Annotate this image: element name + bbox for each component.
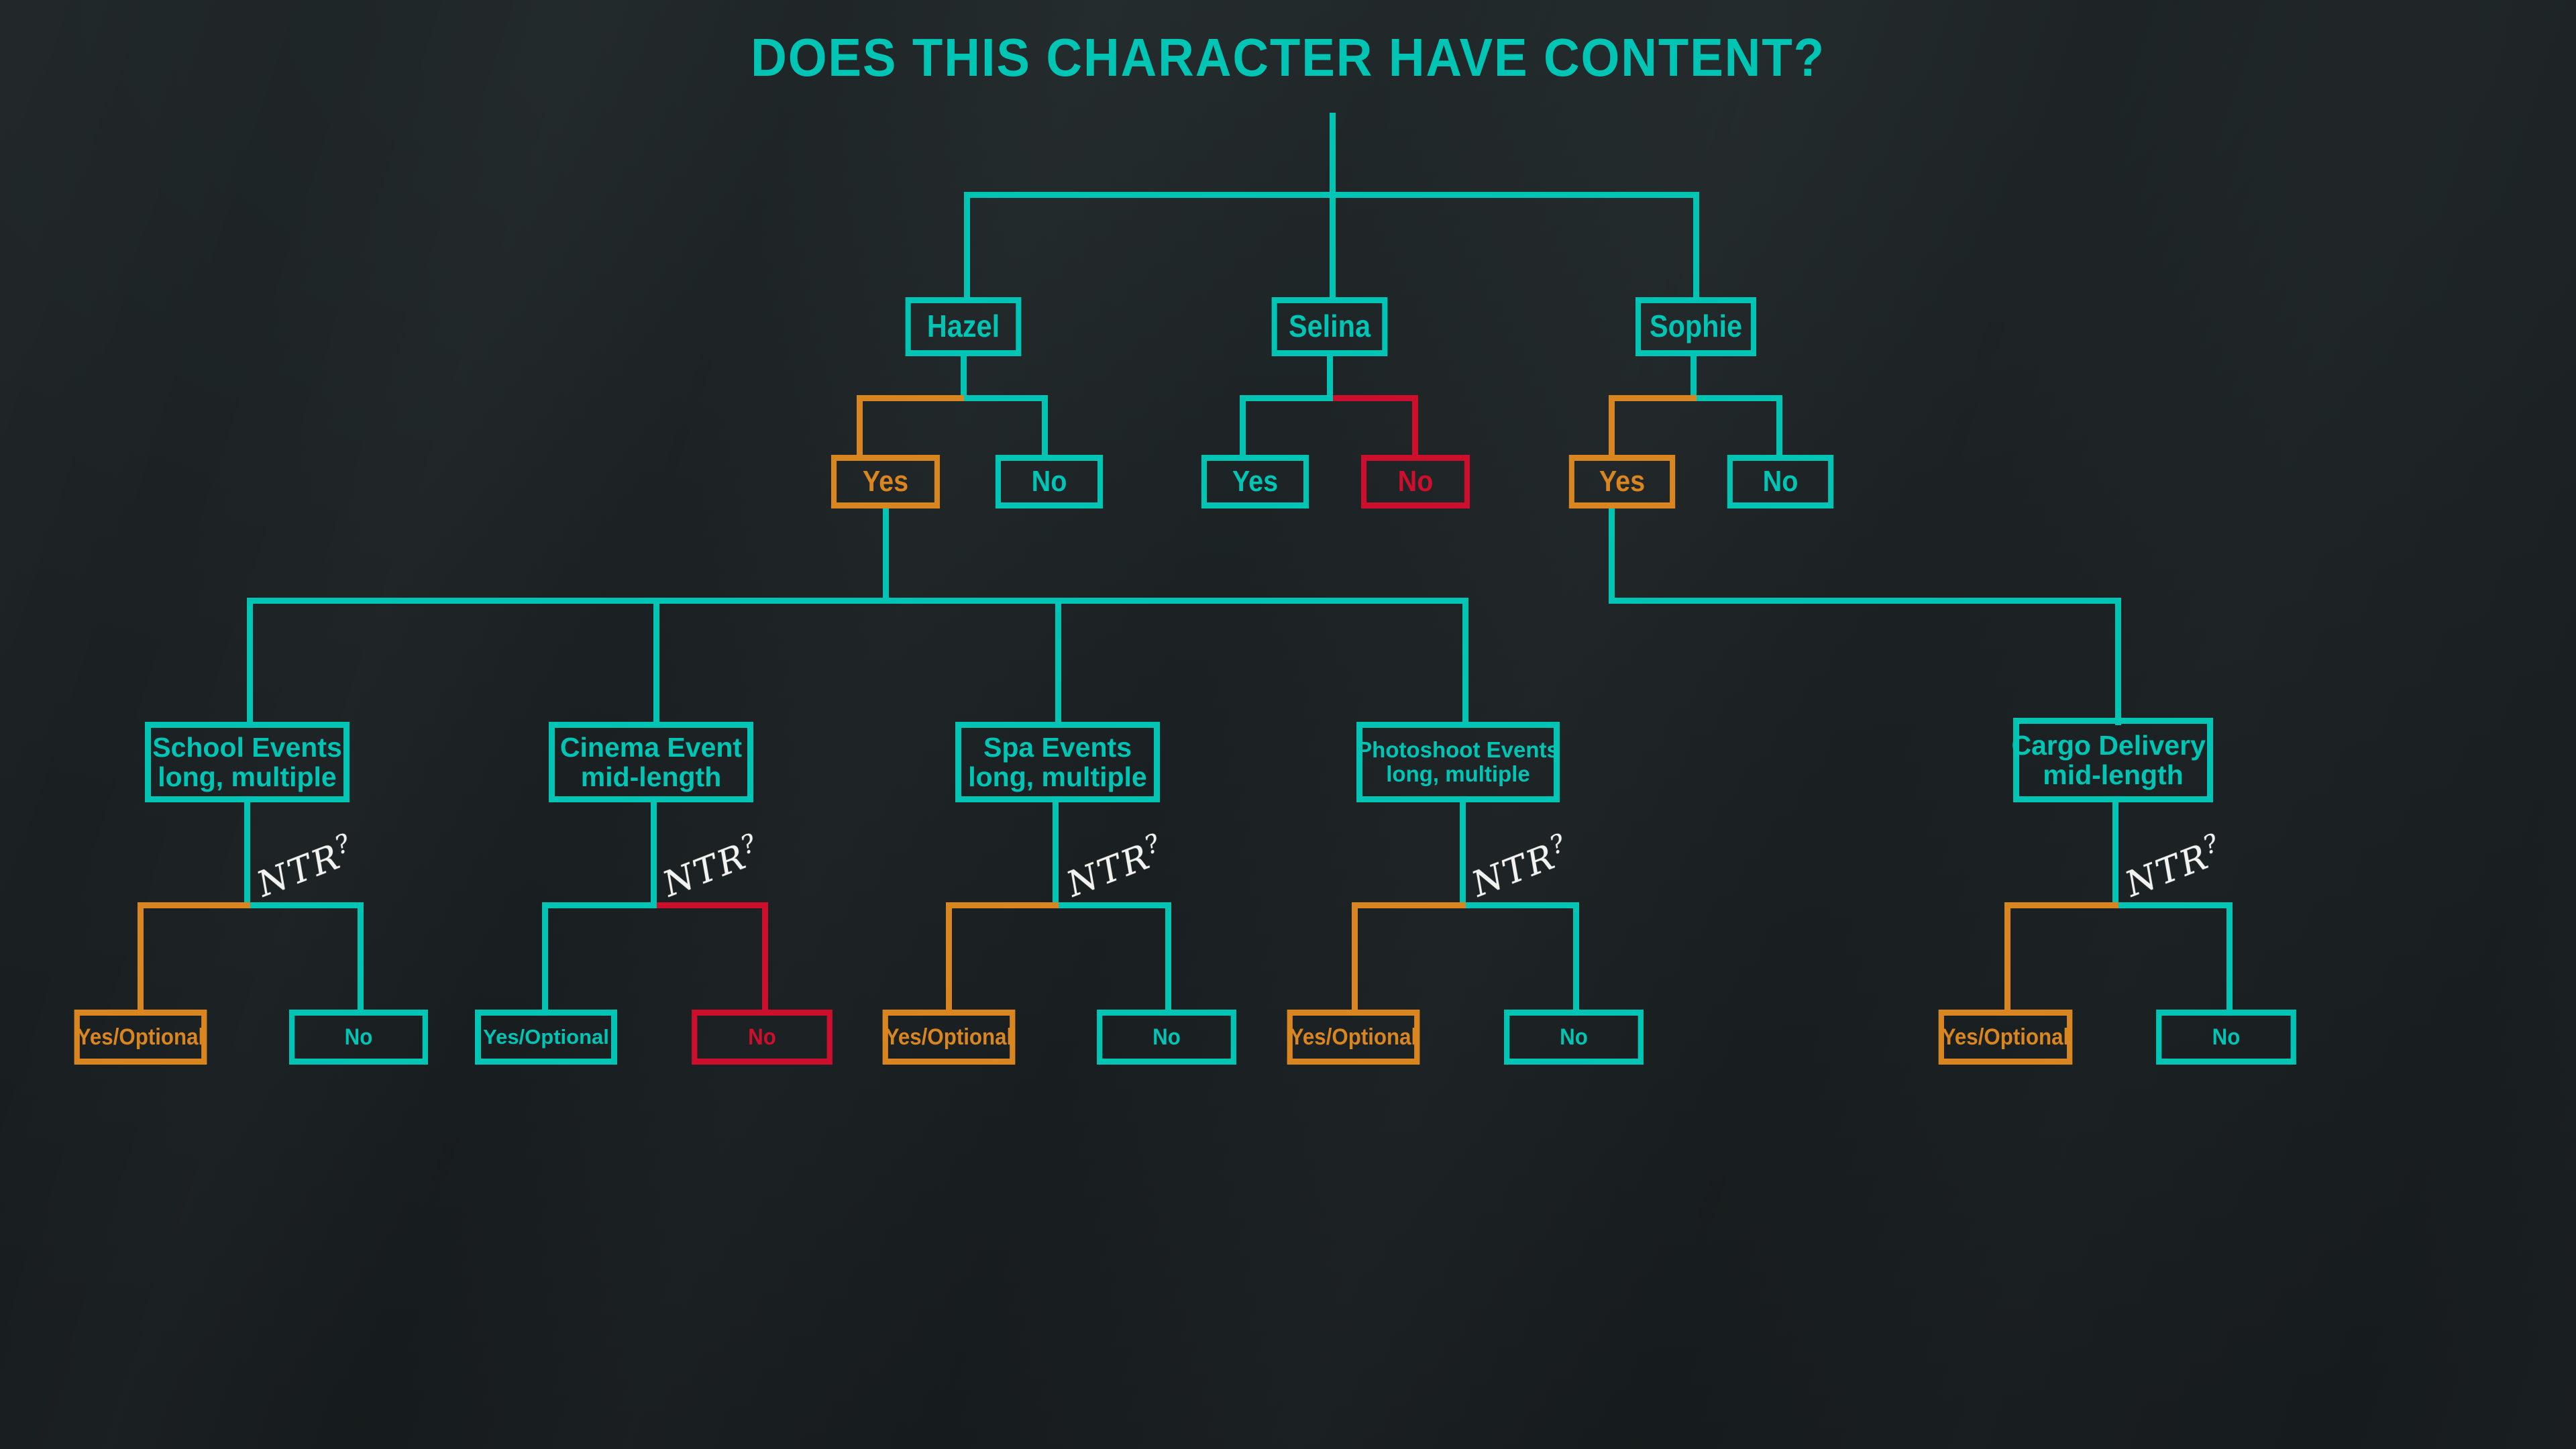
connector-cinema-yes-bus xyxy=(542,902,657,908)
connector-photoshoot-no-bus xyxy=(1466,902,1579,908)
leaf-box-school-no[interactable]: No xyxy=(289,1010,428,1065)
connector-bus-to-photoshoot xyxy=(1462,598,1468,725)
connector-cargo-no-drop xyxy=(2226,902,2233,1014)
page-title: DOES THIS CHARACTER HAVE CONTENT? xyxy=(90,27,2485,89)
event-title: Spa Events xyxy=(983,733,1132,762)
connector-cinema-no-drop xyxy=(762,902,768,1014)
event-subtitle: mid-length xyxy=(581,762,722,792)
event-subtitle: long, multiple xyxy=(1386,762,1529,786)
connector-photoshoot-yes-drop xyxy=(1352,902,1358,1014)
connector-sophie-drop xyxy=(1690,356,1697,400)
connector-hazel-drop xyxy=(961,356,967,400)
connector-school-no-bus xyxy=(250,902,364,908)
answer-label: Yes xyxy=(863,466,908,498)
connector-photoshoot-no-drop xyxy=(1573,902,1579,1014)
connector-cargo-yes-bus xyxy=(2004,902,2118,908)
answer-box-sophie-yes[interactable]: Yes xyxy=(1569,455,1675,508)
leaf-label: Yes/Optional xyxy=(885,1025,1012,1050)
connector-cargo-no-bus xyxy=(2118,902,2233,908)
leaf-label: No xyxy=(1152,1025,1181,1050)
connector-sophie-no-bus xyxy=(1697,395,1782,401)
connector-cargo-drop xyxy=(2112,802,2118,906)
event-box-cinema[interactable]: Cinema Event mid-length xyxy=(549,722,753,802)
character-box-selina[interactable]: Selina xyxy=(1272,297,1388,356)
character-label: Sophie xyxy=(1650,310,1742,343)
leaf-box-photoshoot-yes[interactable]: Yes/Optional xyxy=(1287,1010,1420,1065)
connector-spa-no-drop xyxy=(1165,902,1171,1014)
leaf-box-cargo-yes[interactable]: Yes/Optional xyxy=(1939,1010,2073,1065)
event-title: Cargo Delivery! xyxy=(2011,731,2214,760)
connector-selina-yes-bus xyxy=(1240,395,1333,401)
connector-hazelyes-drop xyxy=(883,508,889,602)
connector-selina-yes-drop xyxy=(1240,395,1246,457)
connector-bus-to-cinema xyxy=(653,598,659,725)
leaf-label: Yes/Optional xyxy=(1290,1025,1417,1050)
connector-hazel-no-drop xyxy=(1042,395,1048,457)
connector-school-yes-drop xyxy=(138,902,144,1014)
answer-label: No xyxy=(1032,466,1067,498)
leaf-label: No xyxy=(345,1025,373,1050)
connector-sophie-yes-bus xyxy=(1609,395,1697,401)
connector-root-to-hazel xyxy=(964,192,970,299)
flowchart-canvas: DOES THIS CHARACTER HAVE CONTENT? Hazel … xyxy=(0,0,2576,1449)
answer-box-hazel-no[interactable]: No xyxy=(996,455,1103,508)
ntr-label-photoshoot: NTR? xyxy=(1465,827,1576,905)
connector-photoshoot-drop xyxy=(1460,802,1466,906)
leaf-box-photoshoot-no[interactable]: No xyxy=(1504,1010,1644,1065)
ntr-text: NTR xyxy=(657,837,752,905)
leaf-box-cinema-yes[interactable]: Yes/Optional xyxy=(475,1010,617,1065)
event-box-cargo[interactable]: Cargo Delivery! mid-length xyxy=(2013,718,2213,802)
connector-school-yes-bus xyxy=(138,902,250,908)
connector-spa-drop xyxy=(1053,802,1059,906)
connector-school-no-drop xyxy=(358,902,364,1014)
ntr-text: NTR xyxy=(1466,837,1561,905)
answer-label: Yes xyxy=(1232,466,1278,498)
ntr-text: NTR xyxy=(1061,837,1156,905)
answer-box-sophie-no[interactable]: No xyxy=(1727,455,1833,508)
event-box-spa[interactable]: Spa Events long, multiple xyxy=(955,722,1160,802)
character-box-hazel[interactable]: Hazel xyxy=(906,297,1022,356)
answer-label: No xyxy=(1398,466,1434,498)
leaf-box-cargo-no[interactable]: No xyxy=(2156,1010,2296,1065)
event-subtitle: mid-length xyxy=(2043,760,2184,790)
leaf-label: No xyxy=(2212,1025,2241,1050)
connector-bus-to-school xyxy=(247,598,253,725)
leaf-label: Yes/Optional xyxy=(483,1026,609,1048)
leaf-box-spa-no[interactable]: No xyxy=(1097,1010,1236,1065)
ntr-text: NTR xyxy=(252,837,346,905)
connector-cinema-no-bus xyxy=(657,902,768,908)
ntr-label-school: NTR? xyxy=(250,827,361,905)
event-box-school[interactable]: School Events long, multiple xyxy=(145,722,350,802)
leaf-label: No xyxy=(1560,1025,1588,1050)
connector-sophieyes-bus xyxy=(1609,598,2121,604)
character-box-sophie[interactable]: Sophie xyxy=(1635,297,1756,356)
connector-cargo-yes-drop xyxy=(2004,902,2010,1014)
connector-hazel-no-bus xyxy=(964,395,1048,401)
answer-label: No xyxy=(1763,466,1799,498)
connector-sophie-no-drop xyxy=(1776,395,1782,457)
answer-box-hazel-yes[interactable]: Yes xyxy=(831,455,940,508)
ntr-label-cargo: NTR? xyxy=(2118,827,2229,905)
leaf-box-school-yes[interactable]: Yes/Optional xyxy=(74,1010,207,1065)
connector-bus-to-cargo xyxy=(2115,598,2121,725)
character-label: Selina xyxy=(1289,310,1371,343)
event-subtitle: long, multiple xyxy=(968,762,1146,792)
connector-selina-no-bus xyxy=(1333,395,1418,401)
event-subtitle: long, multiple xyxy=(158,762,336,792)
leaf-label: Yes/Optional xyxy=(77,1025,204,1050)
connector-root-to-selina xyxy=(1330,192,1336,299)
event-title: Photoshoot Events xyxy=(1357,738,1559,762)
leaf-box-cinema-no[interactable]: No xyxy=(692,1010,833,1065)
event-title: School Events xyxy=(152,733,342,762)
connector-root-trunk xyxy=(1330,113,1336,195)
connector-spa-yes-drop xyxy=(946,902,952,1014)
connector-spa-yes-bus xyxy=(946,902,1059,908)
connector-cinema-yes-drop xyxy=(542,902,548,1014)
ntr-label-spa: NTR? xyxy=(1060,827,1171,905)
connector-root-to-sophie xyxy=(1693,192,1699,299)
connector-events-bus xyxy=(247,598,1468,604)
event-box-photoshoot[interactable]: Photoshoot Events long, multiple xyxy=(1356,722,1560,802)
ntr-label-cinema: NTR? xyxy=(656,827,767,905)
connector-bus-to-spa xyxy=(1055,598,1061,725)
connector-sophieyes-drop xyxy=(1609,508,1615,602)
event-title: Cinema Event xyxy=(560,733,742,762)
leaf-label: Yes/Optional xyxy=(1942,1025,2069,1050)
leaf-label: No xyxy=(748,1025,776,1050)
character-label: Hazel xyxy=(927,310,1000,343)
connector-cinema-drop xyxy=(651,802,657,906)
answer-box-selina-yes[interactable]: Yes xyxy=(1201,455,1309,508)
connector-sophie-yes-drop xyxy=(1609,395,1615,457)
connector-hazel-yes-bus xyxy=(857,395,964,401)
answer-box-selina-no[interactable]: No xyxy=(1361,455,1470,508)
answer-label: Yes xyxy=(1599,466,1645,498)
connector-hazel-yes-drop xyxy=(857,395,863,457)
leaf-box-spa-yes[interactable]: Yes/Optional xyxy=(883,1010,1016,1065)
connector-spa-no-bus xyxy=(1059,902,1171,908)
ntr-text: NTR xyxy=(2120,837,2214,905)
connector-selina-no-drop xyxy=(1412,395,1418,457)
connector-selina-drop xyxy=(1327,356,1333,400)
connector-photoshoot-yes-bus xyxy=(1352,902,1466,908)
connector-school-drop xyxy=(244,802,250,906)
